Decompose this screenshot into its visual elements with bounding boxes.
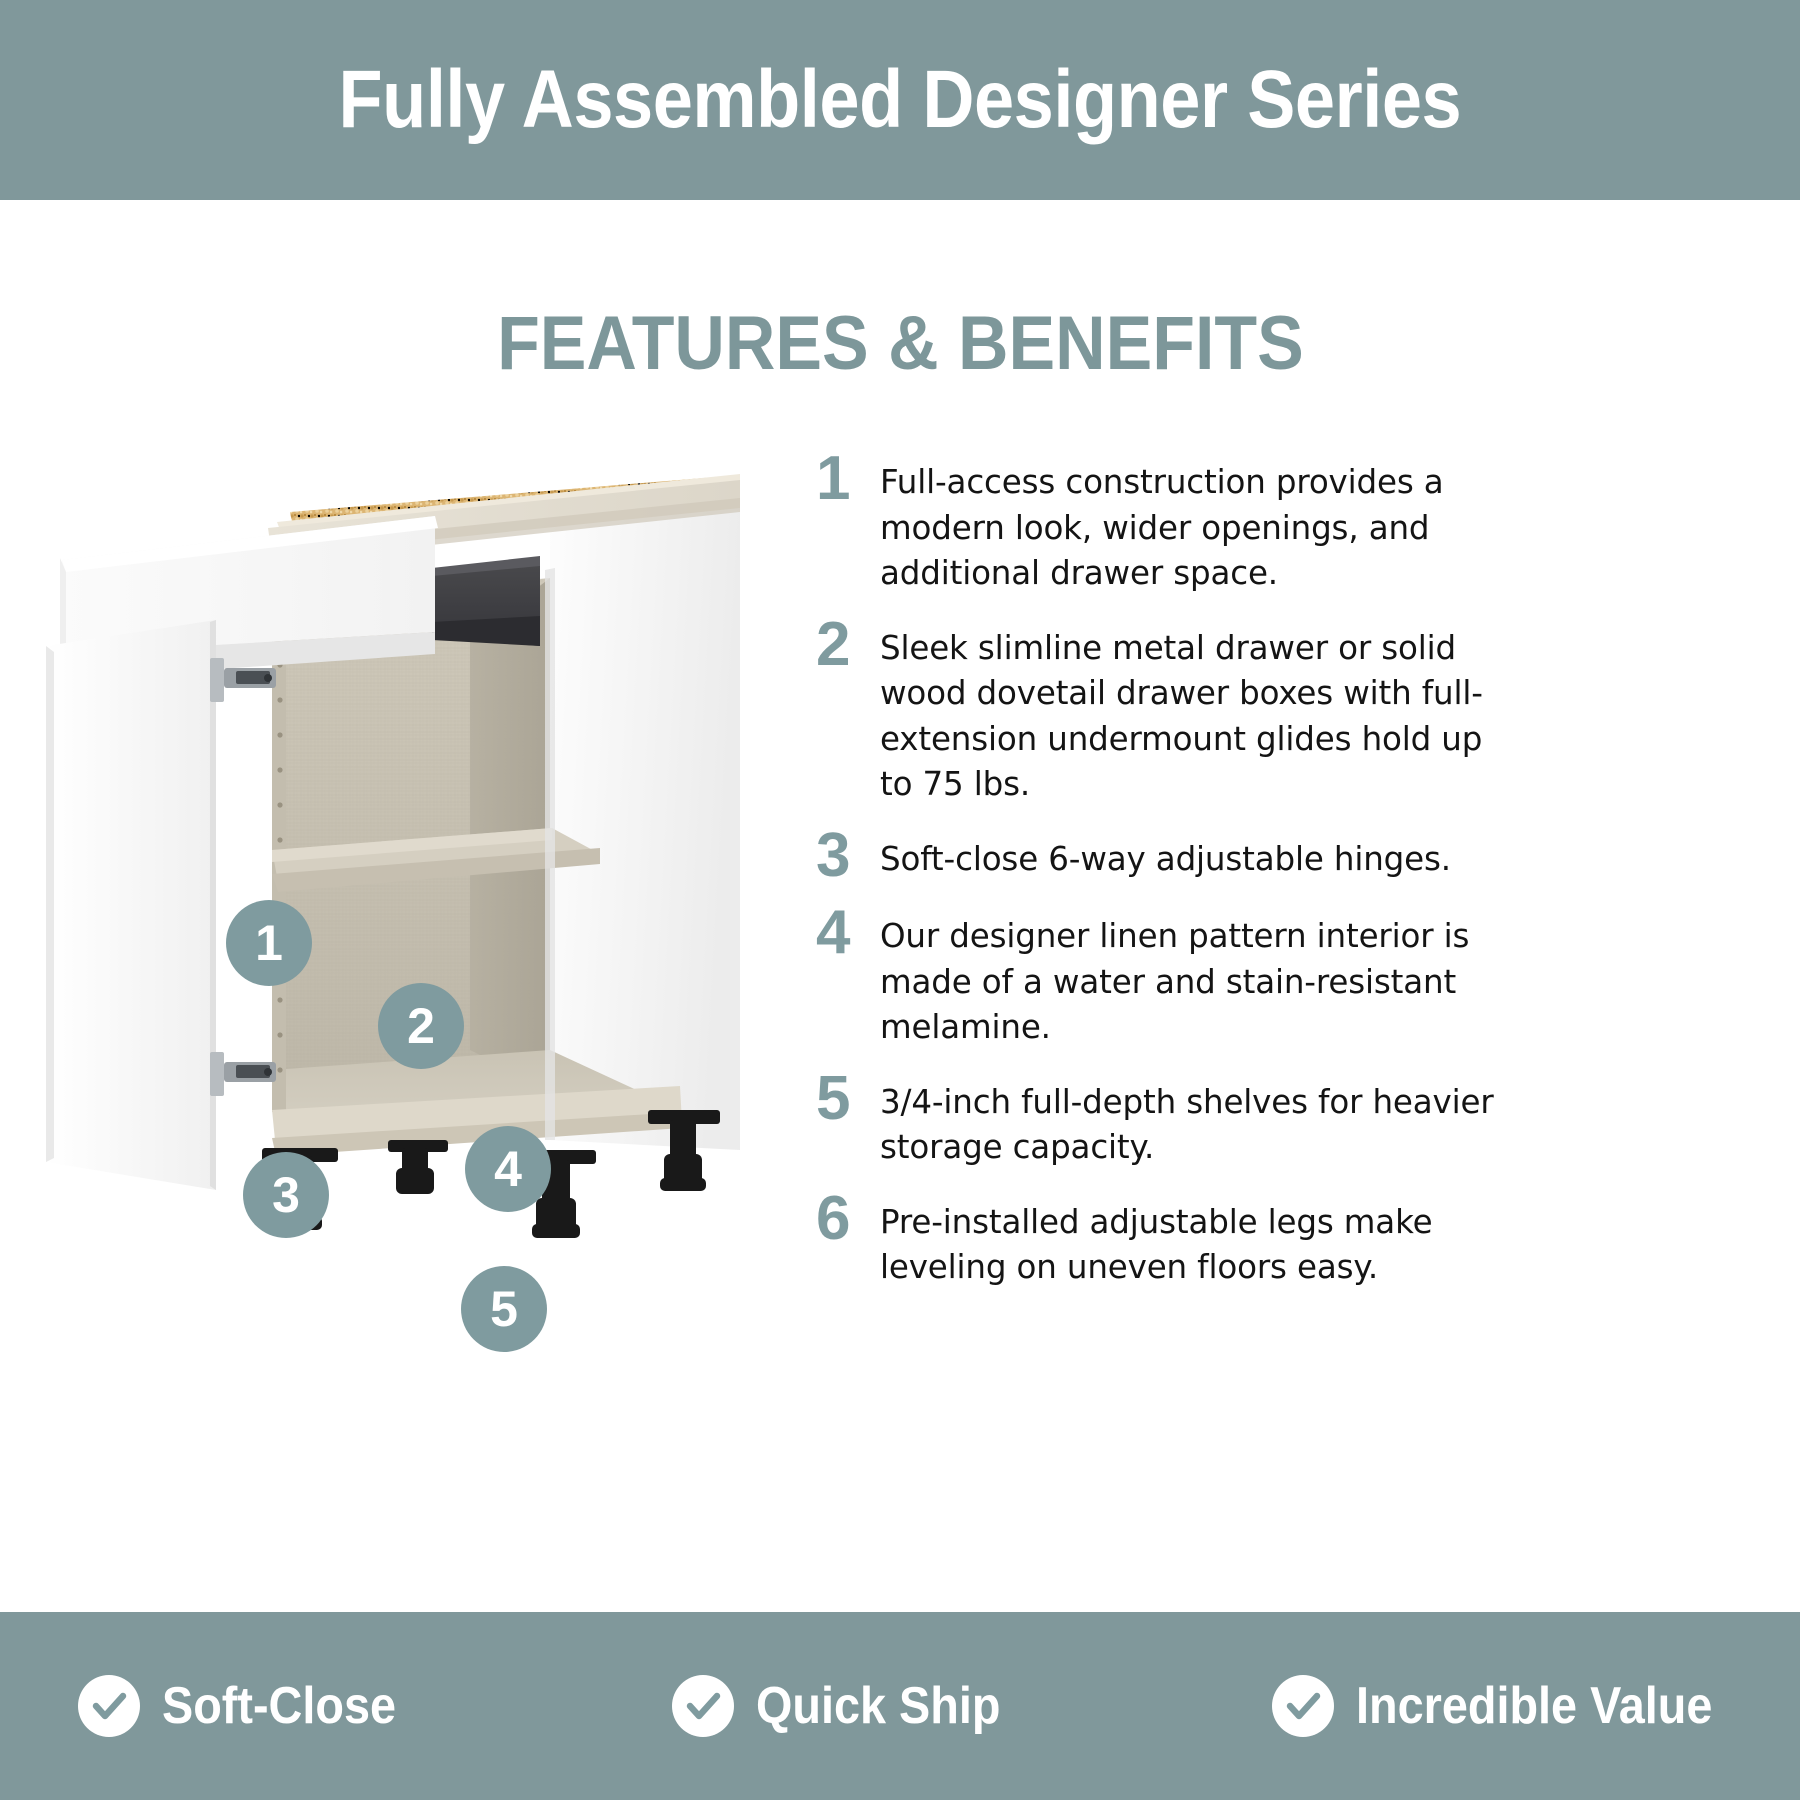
feature-text-3: Soft-close 6-way adjustable hinges.	[880, 825, 1520, 883]
footer-badge-label-1: Soft-Close	[162, 1676, 396, 1736]
footer-badge-label-2: Quick Ship	[756, 1676, 1000, 1736]
check-circle-icon	[1272, 1675, 1334, 1737]
feature-number-1: 1	[808, 448, 880, 509]
feature-text-1: Full-access construction provides a mode…	[880, 448, 1520, 597]
infographic-page: Fully Assembled Designer Series FEATURES…	[0, 0, 1800, 1800]
feature-text-6: Pre-installed adjustable legs make level…	[880, 1188, 1520, 1291]
footer-badge-incredible-value: Incredible Value	[1272, 1675, 1752, 1737]
callout-1: 1	[226, 900, 312, 986]
features-list: 1 Full-access construction provides a mo…	[808, 448, 1748, 1308]
callout-4: 4	[465, 1126, 551, 1212]
metal-drawer-box	[432, 556, 540, 646]
section-heading-text: FEATURES & BENEFITS	[497, 300, 1304, 387]
footer-badge-label-3: Incredible Value	[1356, 1676, 1712, 1736]
feature-item-4: 4 Our designer linen pattern interior is…	[808, 902, 1748, 1051]
top-banner: Fully Assembled Designer Series	[0, 0, 1800, 200]
soft-close-hinge-lower	[210, 1052, 276, 1096]
feature-item-6: 6 Pre-installed adjustable legs make lev…	[808, 1188, 1748, 1291]
feature-item-5: 5 3/4-inch full-depth shelves for heavie…	[808, 1068, 1748, 1171]
feature-number-3: 3	[808, 825, 880, 886]
cabinet-door	[46, 620, 216, 1190]
feature-text-4: Our designer linen pattern interior is m…	[880, 902, 1520, 1051]
feature-text-5: 3/4-inch full-depth shelves for heavier …	[880, 1068, 1520, 1171]
bottom-banner: Soft-Close Quick Ship Incredible Value	[0, 1612, 1800, 1800]
feature-item-3: 3 Soft-close 6-way adjustable hinges.	[808, 825, 1748, 886]
feature-number-6: 6	[808, 1188, 880, 1249]
product-image: 1 2 3 4 5 6	[40, 450, 800, 1310]
check-circle-icon	[672, 1675, 734, 1737]
check-circle-icon	[78, 1675, 140, 1737]
section-heading: FEATURES & BENEFITS	[0, 300, 1800, 387]
leg-rear-right	[648, 1110, 720, 1191]
banner-title: Fully Assembled Designer Series	[339, 53, 1462, 147]
feature-number-5: 5	[808, 1068, 880, 1129]
feature-text-2: Sleek slimline metal drawer or solid woo…	[880, 614, 1520, 808]
feature-number-2: 2	[808, 614, 880, 675]
callout-3: 3	[243, 1152, 329, 1238]
callout-5: 5	[461, 1266, 547, 1352]
leg-center	[388, 1140, 448, 1194]
feature-item-1: 1 Full-access construction provides a mo…	[808, 448, 1748, 597]
base-cabinet-illustration	[40, 450, 800, 1310]
cabinet-right-panel	[550, 475, 740, 1150]
footer-badge-soft-close: Soft-Close	[78, 1675, 422, 1737]
feature-number-4: 4	[808, 902, 880, 963]
feature-item-2: 2 Sleek slimline metal drawer or solid w…	[808, 614, 1748, 808]
callout-2: 2	[378, 983, 464, 1069]
footer-badge-quick-ship: Quick Ship	[672, 1675, 1028, 1737]
